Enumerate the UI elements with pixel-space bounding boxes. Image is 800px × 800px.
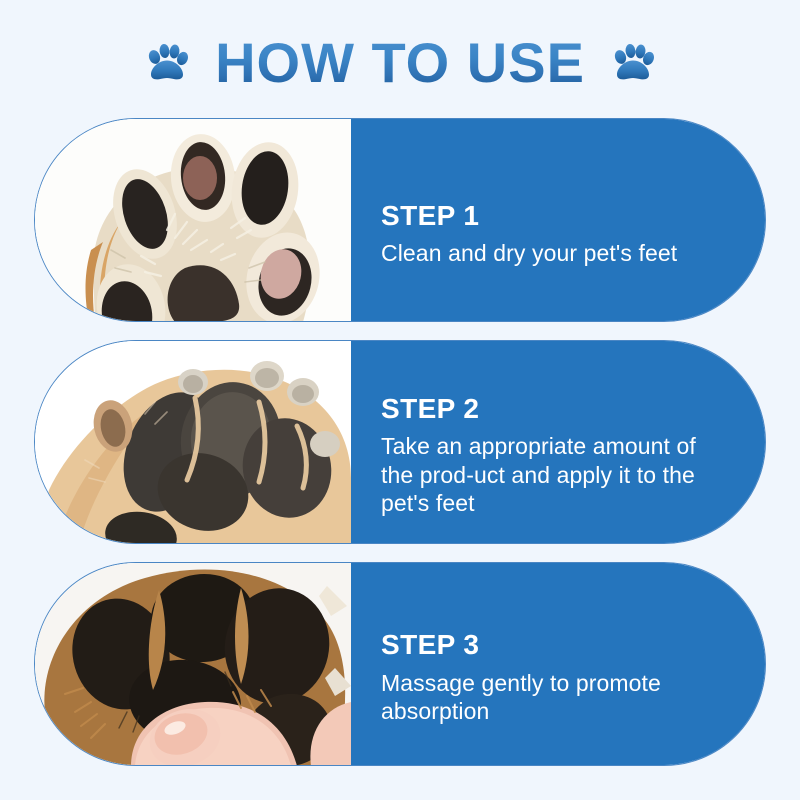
step-content: STEP 2 Take an appropriate amount of the… xyxy=(351,341,765,543)
step-label: STEP 3 xyxy=(381,628,719,661)
step-label: STEP 1 xyxy=(381,199,719,232)
step-content: STEP 3 Massage gently to promote absorpt… xyxy=(351,563,765,765)
step-photo xyxy=(35,563,351,765)
step-card: STEP 1 Clean and dry your pet's feet xyxy=(34,118,766,322)
step-description: Clean and dry your pet's feet xyxy=(381,239,719,268)
paw-print-icon xyxy=(145,41,189,85)
step-description: Massage gently to promote absorption xyxy=(381,669,719,726)
steps-list: STEP 1 Clean and dry your pet's feet xyxy=(0,118,800,766)
step-label: STEP 2 xyxy=(381,392,719,425)
step-description: Take an appropriate amount of the prod-u… xyxy=(381,432,719,518)
paw-print-icon xyxy=(611,41,655,85)
step-content: STEP 1 Clean and dry your pet's feet xyxy=(351,119,765,321)
step-photo xyxy=(35,341,351,543)
page-header: HOW TO USE xyxy=(0,0,800,118)
page-title: HOW TO USE xyxy=(215,35,585,91)
step-card: STEP 2 Take an appropriate amount of the… xyxy=(34,340,766,544)
step-photo xyxy=(35,119,351,321)
step-card: STEP 3 Massage gently to promote absorpt… xyxy=(34,562,766,766)
